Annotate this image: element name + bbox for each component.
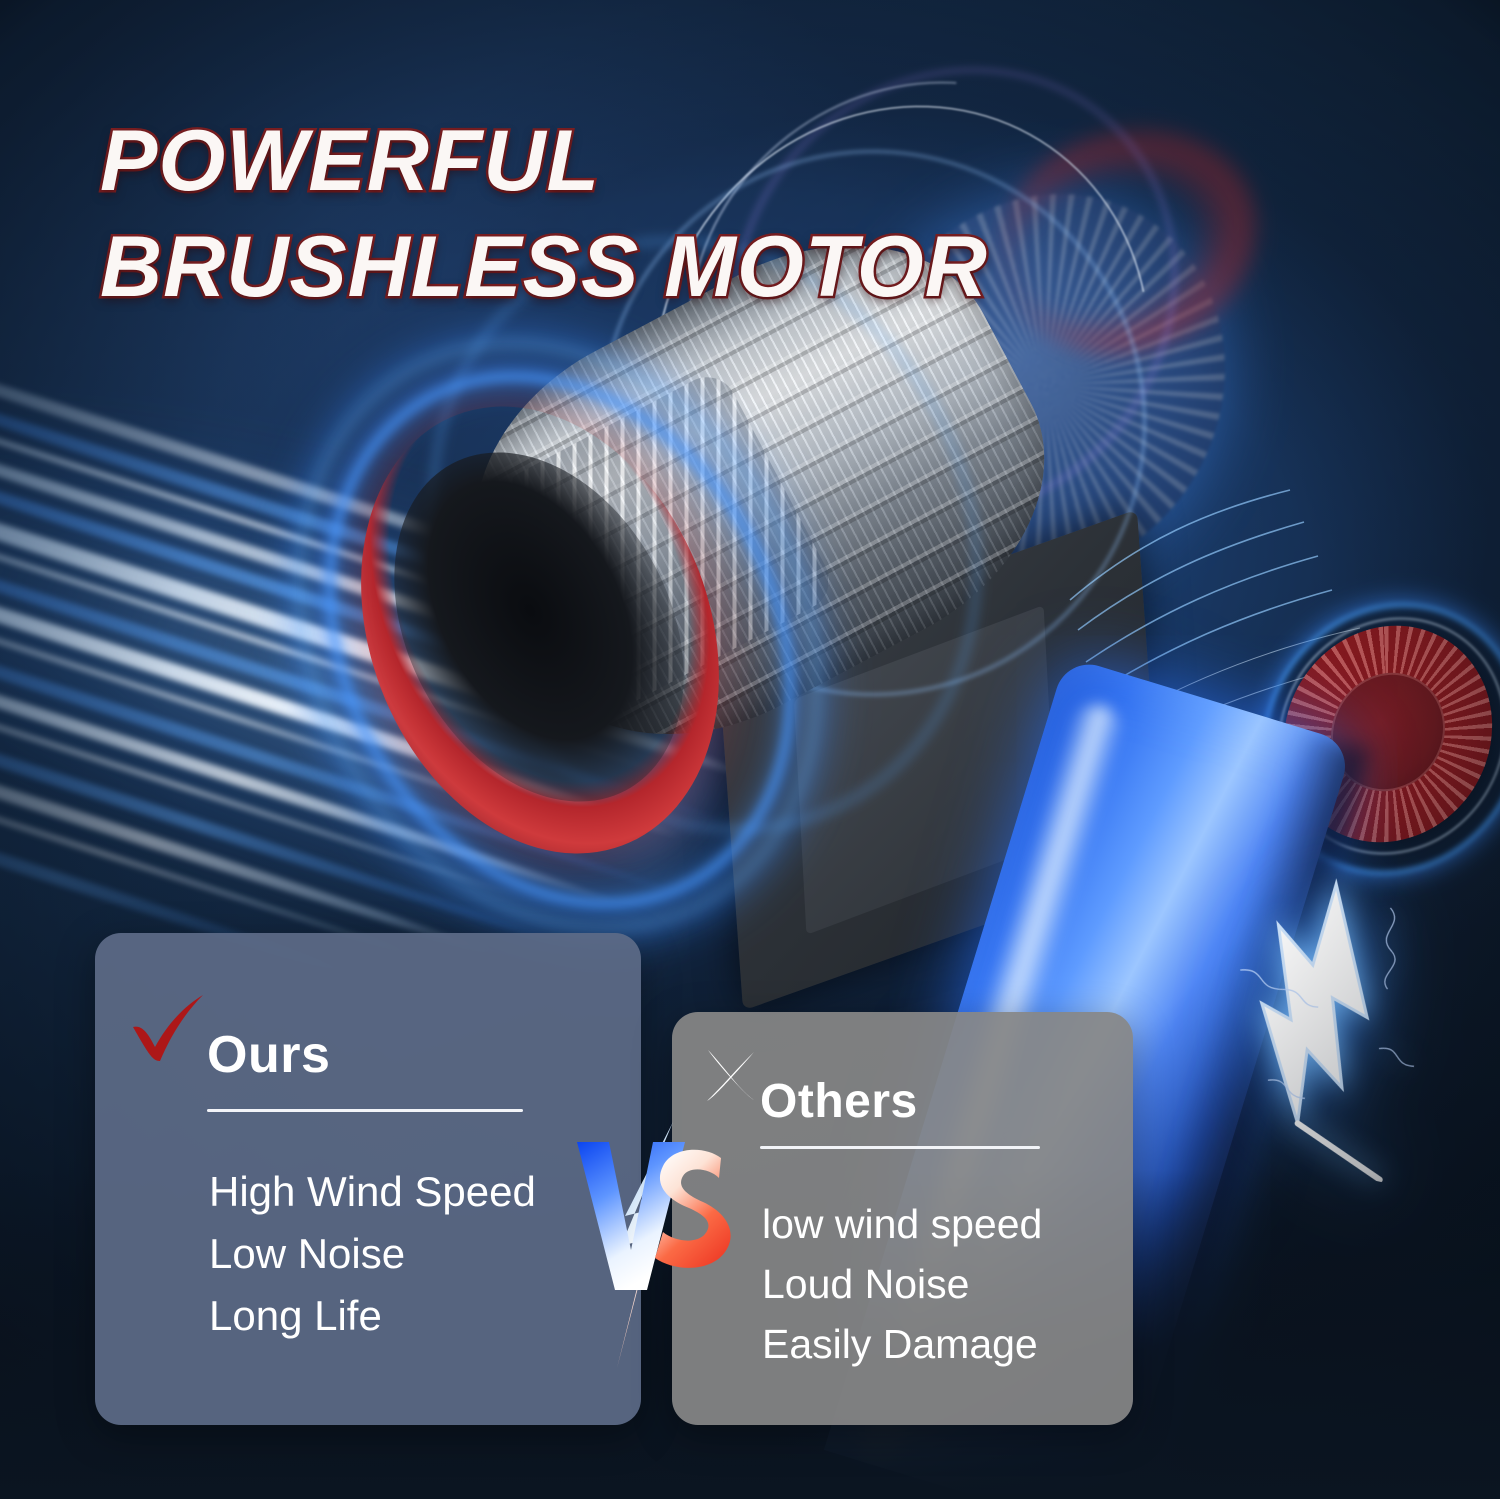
others-title: Others [760, 1074, 918, 1129]
vs-badge [565, 1120, 755, 1370]
headline-line-2: BRUSHLESS MOTOR [100, 214, 1250, 320]
list-item: High Wind Speed [209, 1161, 536, 1223]
list-item: Loud Noise [762, 1254, 1042, 1314]
list-item: Long Life [209, 1285, 536, 1347]
list-item: Low Noise [209, 1223, 536, 1285]
comparison-card-ours: Ours High Wind Speed Low Noise Long Life [95, 933, 641, 1425]
others-title-underline [760, 1146, 1040, 1149]
ours-title: Ours [207, 1025, 330, 1085]
list-item: low wind speed [762, 1194, 1042, 1254]
ours-feature-list: High Wind Speed Low Noise Long Life [209, 1161, 536, 1347]
list-item: Easily Damage [762, 1314, 1042, 1374]
ours-title-underline [207, 1109, 523, 1112]
product-marketing-image: POWERFUL BRUSHLESS MOTOR Ours High Wind … [0, 0, 1500, 1499]
headline-line-1: POWERFUL [100, 108, 1250, 214]
page-title: POWERFUL BRUSHLESS MOTOR [100, 108, 1250, 320]
others-feature-list: low wind speed Loud Noise Easily Damage [762, 1194, 1042, 1374]
check-mark-icon [127, 993, 209, 1065]
cross-mark-icon [702, 1046, 760, 1104]
